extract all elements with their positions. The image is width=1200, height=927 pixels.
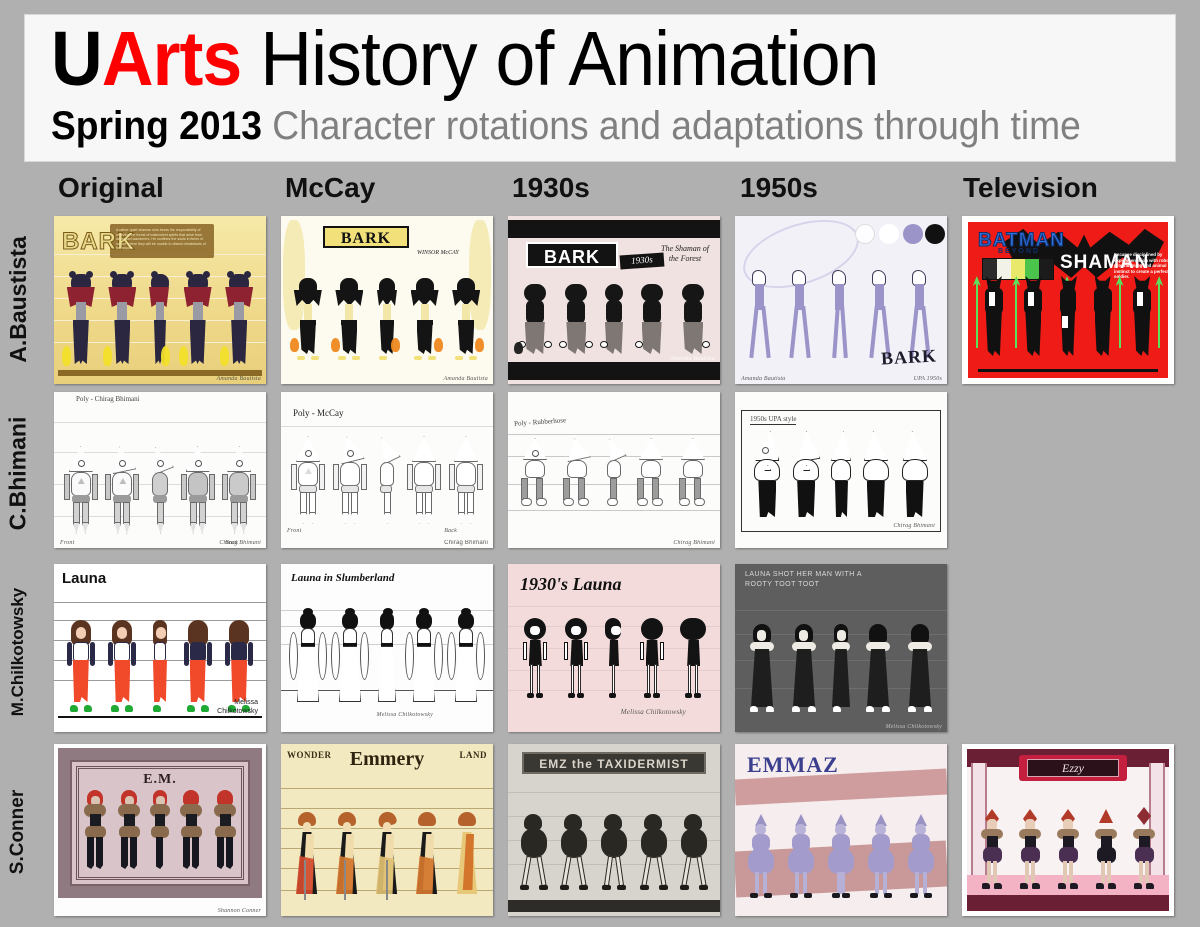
column-header-1950s: 1950s (740, 172, 818, 204)
bark-title: BARK (880, 346, 937, 370)
character-figure (107, 274, 137, 366)
figure-row (54, 268, 266, 372)
title-banner: UArts History of Animation Spring 2013 C… (24, 14, 1176, 162)
view-label-back: Back (444, 528, 457, 534)
character-figure (377, 612, 397, 704)
character-figure (605, 618, 623, 698)
artist-signature: Melissa Chilkotowsky (377, 712, 434, 718)
sheet-title: 1930's Launa (520, 574, 622, 595)
figure-row (281, 808, 493, 904)
cell-chilkotowsky-television-empty (962, 564, 1174, 732)
character-figure (178, 790, 204, 870)
sheet-title: EMZ the TAXIDERMIST (524, 757, 704, 771)
sheet-note: 1950s UPA style (750, 415, 796, 425)
artwork-emmery-original: E.M. (58, 748, 262, 898)
column-header-1930s: 1930s (512, 172, 590, 204)
character-figure (377, 278, 397, 362)
figure-row (508, 442, 720, 522)
figure-row (508, 814, 720, 896)
sheet-title: Launa in Slumberland (291, 572, 394, 584)
bark-blurb: A rather quiet shaman who bears the resp… (116, 228, 210, 251)
sheet-title: LAUNA SHOT HER MAN WITH A ROOTY TOOT TOO… (745, 570, 862, 590)
character-figure (831, 624, 851, 712)
figure-row (735, 622, 947, 718)
artwork-launa-original: Launa (54, 564, 266, 732)
cell-baustista-original[interactable]: BARK A rather quiet shaman who bears the… (54, 216, 266, 384)
artist-signature: Shannon Conner (218, 908, 261, 914)
artwork-emmery-1950s: EMMAZ (735, 744, 947, 916)
artist-signature: Melissa Chilkotowsky (886, 724, 943, 730)
sheet-title: Poly - McCay (293, 408, 344, 418)
brand-arts: Arts (102, 16, 242, 102)
artwork-launa-1930s: 1930's Launa (508, 564, 720, 732)
bark-subtitle: The Shaman of the Forest (656, 244, 714, 264)
column-header-television: Television (963, 172, 1098, 204)
column-header-mccay: McCay (285, 172, 375, 204)
cell-bhimani-1950s[interactable]: 1950s UPA style (735, 392, 947, 548)
cell-chilkotowsky-1930s[interactable]: 1930's Launa (508, 564, 720, 732)
row-label-bhimani: C.Bhimani (0, 390, 36, 556)
character-figure (452, 436, 480, 524)
character-figure (372, 812, 402, 898)
character-figure (150, 790, 170, 870)
subtitle-text: Character rotations and adaptations thro… (262, 104, 1081, 148)
artist-signature: Melissa Chilkotowsky (621, 708, 686, 716)
artist-signature: Chirag Bhimani (893, 523, 935, 529)
marquee-inner: Ezzy (1027, 759, 1119, 777)
art-deco-frame: E.M. (70, 760, 250, 886)
character-figure (826, 814, 856, 898)
figure-row (735, 810, 947, 904)
bark-title: BARK (528, 247, 616, 268)
character-figure (294, 278, 322, 362)
character-figure (1017, 809, 1043, 889)
character-figure (792, 431, 820, 513)
cell-chilkotowsky-mccay[interactable]: Launa in Slumberland (281, 564, 493, 732)
cell-bhimani-mccay[interactable]: Poly - McCay (281, 392, 493, 548)
character-figure (906, 814, 936, 898)
character-figure (1126, 276, 1158, 358)
character-figure (1131, 809, 1157, 889)
character-figure (68, 620, 94, 712)
character-figure (679, 438, 707, 516)
character-figure (786, 814, 816, 898)
studio-mark: UPA 1950s (914, 376, 942, 382)
poster-subtitle: Spring 2013 Character rotations and adap… (51, 103, 1096, 149)
character-figure (1057, 276, 1079, 358)
character-figure (680, 618, 706, 698)
brand-u: U (51, 16, 102, 102)
sheet-title: Launa (62, 570, 106, 587)
sheet-title: EMMAZ (747, 752, 839, 778)
artwork-bark-1930s: BARK 1930s The Shaman of the Forest (508, 216, 720, 384)
marquee-sign: Ezzy (1019, 755, 1127, 781)
character-figure (82, 790, 108, 870)
character-figure (67, 446, 95, 534)
character-figure (862, 431, 890, 513)
artwork-poly-1950s: 1950s UPA style (741, 410, 941, 532)
cell-bhimani-television-empty (962, 392, 1174, 548)
term-label: Spring 2013 (51, 104, 262, 148)
figure-row (967, 807, 1169, 895)
character-figure (746, 270, 776, 362)
character-figure (558, 814, 590, 890)
cell-chilkotowsky-original[interactable]: Launa (54, 564, 266, 732)
cell-baustista-1930s[interactable]: BARK 1930s The Shaman of the Forest (508, 216, 720, 384)
character-figure (866, 814, 896, 898)
character-figure (336, 436, 364, 524)
character-figure (412, 812, 442, 898)
character-figure (409, 612, 439, 704)
character-figure (518, 814, 550, 890)
title-main: History of Animation (241, 16, 878, 102)
figure-row (742, 435, 940, 519)
artwork-shaman-tv: BATMAN BEYOND SHAMAN Escapee disciplined… (968, 222, 1168, 378)
character-figure (109, 620, 135, 712)
artwork-poly-1930s: Poly - Rubberhose (508, 392, 720, 548)
artist-signature: Chirag Bhimani (219, 540, 261, 546)
title-plate: BARK (323, 226, 409, 248)
artist-signature: Amanda Bautista (444, 376, 489, 382)
character-figure (638, 814, 670, 890)
mccay-note: WINSOR McCAY (417, 250, 459, 256)
character-figure (451, 612, 481, 704)
character-figure (905, 624, 935, 712)
character-figure (978, 276, 1010, 358)
character-figure (335, 612, 365, 704)
title-plaque: EMZ the TAXIDERMIST (522, 752, 706, 774)
sheet-note: Poly - Chirag Bhimani (76, 395, 140, 403)
cell-conner-original[interactable]: E.M. (54, 744, 266, 916)
bark-title: BARK (325, 230, 407, 248)
artist-signature: Amanda Bautista (671, 356, 716, 362)
artwork-bark-mccay: BARK WINSOR McCAY (281, 216, 493, 384)
character-figure (294, 436, 322, 524)
cell-baustista-television[interactable]: BATMAN BEYOND SHAMAN Escapee disciplined… (962, 216, 1174, 384)
title-banner-wonderland: WONDER Emmery LAND (281, 748, 493, 770)
character-figure (66, 274, 96, 366)
cell-conner-1950s[interactable]: EMMAZ (735, 744, 947, 916)
artist-signature: Amanda Bautista (217, 376, 262, 382)
view-label-front: Front (287, 528, 301, 534)
character-figure (292, 812, 322, 898)
artwork-poly-original: Poly - Chirag Bhimani (54, 392, 266, 548)
character-figure (452, 812, 482, 898)
cell-conner-mccay[interactable]: WONDER Emmery LAND (281, 744, 493, 916)
character-figure (185, 620, 211, 712)
figure-row (508, 286, 720, 362)
character-figure (786, 270, 816, 362)
character-figure (1087, 276, 1119, 358)
character-figure (639, 618, 665, 698)
artwork-launa-mccay: Launa in Slumberland (281, 564, 493, 732)
character-figure (522, 618, 548, 698)
sheet-title: Ezzy (1028, 761, 1118, 776)
batman-logo-sub: BEYOND (998, 248, 1040, 255)
artwork-ezzy-tv: Ezzy (967, 749, 1169, 911)
character-figure (637, 438, 665, 516)
banner-right-word: LAND (459, 750, 487, 760)
stage-base (967, 895, 1169, 911)
artwork-bark-original: BARK A rather quiet shaman who bears the… (54, 216, 266, 384)
character-figure (150, 446, 170, 534)
poster-title: UArts History of Animation (51, 17, 1096, 101)
character-figure (605, 438, 623, 516)
character-figure (863, 624, 893, 712)
character-figure (901, 431, 929, 513)
character-figure (1055, 809, 1081, 889)
artist-signature: Chirag Bhimani (673, 540, 715, 546)
cell-baustista-mccay[interactable]: BARK WINSOR McCAY (281, 216, 493, 384)
title-ribbon: BARK (526, 242, 618, 268)
figure-row (281, 438, 493, 530)
view-label-front: Front (60, 540, 74, 546)
artwork-bark-1950s: BARK UPA 1950s Amanda Bautista (735, 216, 947, 384)
character-figure (183, 274, 213, 366)
character-figure (108, 446, 136, 534)
artist-signature: Chirag Bhimani (444, 540, 488, 546)
cell-conner-1930s[interactable]: EMZ the TAXIDERMIST (508, 744, 720, 916)
artwork-emmery-1930s: EMZ the TAXIDERMIST (508, 744, 720, 916)
figure-row (72, 784, 248, 876)
character-figure (563, 618, 589, 698)
character-figure (411, 278, 439, 362)
character-figure (335, 278, 363, 362)
cell-bhimani-original[interactable]: Poly - Chirag Bhimani (54, 392, 266, 548)
character-figure (603, 284, 625, 356)
character-figure (598, 814, 630, 890)
character-figure (520, 284, 550, 356)
character-figure (1093, 809, 1119, 889)
character-figure (637, 284, 667, 356)
row-label-conner: S.Conner (0, 742, 36, 922)
character-figure (979, 809, 1005, 889)
character-figure (293, 612, 323, 704)
cell-conner-television[interactable]: Ezzy (962, 744, 1174, 916)
artist-signature: Amanda Bautista (741, 376, 786, 382)
character-figure (563, 438, 591, 516)
character-figure (561, 284, 591, 356)
artwork-launa-1950s: LAUNA SHOT HER MAN WITH A ROOTY TOOT TOO… (735, 564, 947, 732)
cell-baustista-1950s[interactable]: BARK UPA 1950s Amanda Bautista (735, 216, 947, 384)
ground-line (978, 369, 1158, 372)
artwork-emmery-mccay: WONDER Emmery LAND (281, 744, 493, 916)
row-label-chilkotowsky: M.Chilkotowsky (0, 562, 36, 742)
character-figure (225, 446, 253, 534)
character-figure (678, 814, 710, 890)
character-figure (212, 790, 238, 870)
character-figure (151, 620, 169, 712)
cell-chilkotowsky-1950s[interactable]: LAUNA SHOT HER MAN WITH A ROOTY TOOT TOO… (735, 564, 947, 732)
character-figure (1017, 276, 1049, 358)
character-figure (521, 438, 549, 516)
character-figure (149, 274, 171, 366)
figure-row (508, 616, 720, 704)
figure-row (968, 278, 1168, 364)
character-figure (452, 278, 480, 362)
character-figure (789, 624, 819, 712)
character-figure (116, 790, 142, 870)
cell-bhimani-1930s[interactable]: Poly - Rubberhose (508, 392, 720, 548)
column-header-original: Original (58, 172, 164, 204)
character-figure (184, 446, 212, 534)
character-figure (746, 814, 776, 898)
artist-signature: Melissa Chilkotowsky (217, 698, 258, 716)
column-header-row: Original McCay 1930s 1950s Television (0, 172, 1200, 212)
figure-row (54, 444, 266, 540)
character-figure (753, 431, 781, 513)
figure-row (281, 606, 493, 710)
figure-row (281, 278, 493, 368)
character-figure (747, 624, 777, 712)
poster-page: { "title": { "brand_u": "U", "brand_arts… (0, 0, 1200, 927)
character-figure (831, 431, 851, 513)
character-figure (332, 812, 362, 898)
character-figure (224, 274, 254, 366)
character-figure (826, 270, 856, 362)
character-figure (410, 436, 438, 524)
row-label-baustista: A.Baustista (0, 214, 36, 384)
character-figure (678, 284, 708, 356)
artwork-poly-mccay: Poly - McCay (281, 392, 493, 548)
character-figure (378, 436, 396, 524)
